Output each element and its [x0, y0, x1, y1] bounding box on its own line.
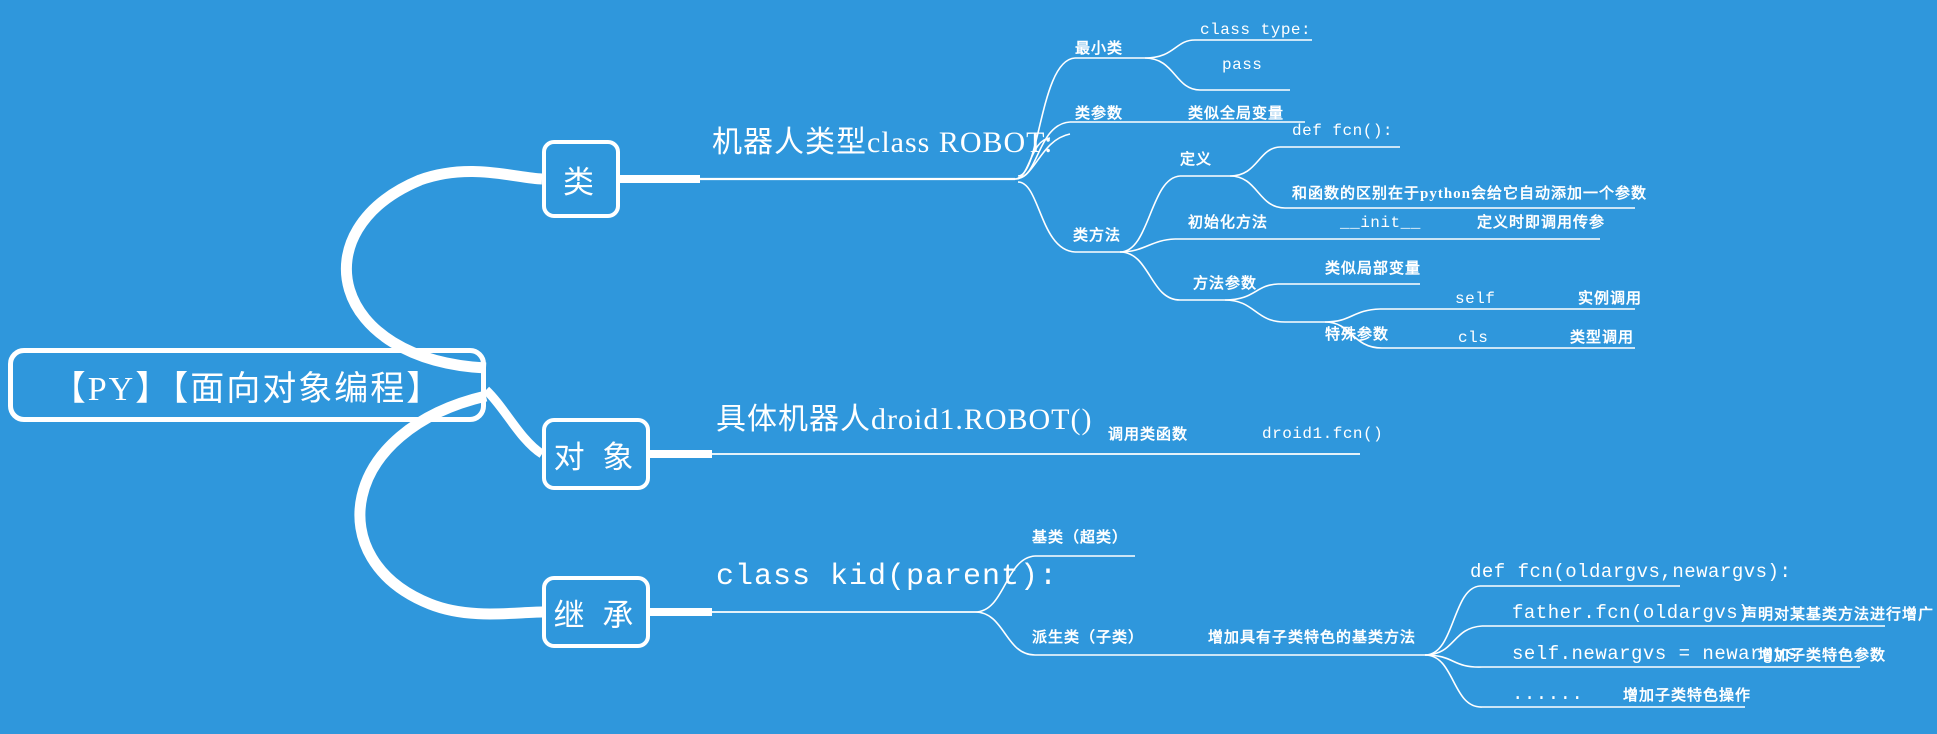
label-like-global-var[interactable]: 类似全局变量: [1188, 107, 1284, 122]
note-class-call[interactable]: 类型调用: [1570, 331, 1634, 346]
code-def-fcn-oldargvs-newargvs[interactable]: def fcn(oldargvs,newargvs):: [1470, 563, 1791, 582]
label-class-methods[interactable]: 类方法: [1073, 229, 1121, 244]
branch-label-object: 对 象: [554, 432, 639, 477]
topic-class-robot[interactable]: 机器人类型class ROBOT:: [712, 128, 1053, 158]
label-base-class[interactable]: 基类（超类）: [1032, 531, 1128, 546]
code-def-fcn[interactable]: def fcn():: [1292, 123, 1393, 139]
note-instance-call[interactable]: 实例调用: [1578, 292, 1642, 307]
note-add-child-operations[interactable]: 增加子类特色操作: [1623, 689, 1751, 704]
code-pass[interactable]: pass: [1222, 57, 1262, 73]
code-ellipsis[interactable]: ......: [1512, 685, 1583, 704]
label-define[interactable]: 定义: [1180, 153, 1212, 168]
label-like-local-var[interactable]: 类似局部变量: [1325, 262, 1421, 277]
label-method-params[interactable]: 方法参数: [1193, 277, 1257, 292]
code-father-fcn-oldargvs[interactable]: father.fcn(oldargvs): [1512, 604, 1750, 623]
note-init-called-on-define[interactable]: 定义时即调用传参: [1477, 216, 1605, 231]
code-cls[interactable]: cls: [1458, 330, 1488, 346]
root-node[interactable]: 【PY】【面向对象编程】: [8, 348, 486, 422]
label-class-params[interactable]: 类参数: [1075, 107, 1123, 122]
label-init-method[interactable]: 初始化方法: [1188, 216, 1268, 231]
label-call-class-function[interactable]: 调用类函数: [1108, 428, 1188, 443]
mindmap-canvas: 【PY】【面向对象编程】 类 对 象 继 承 机器人类型class ROBOT:…: [0, 0, 1937, 734]
code-self[interactable]: self: [1455, 291, 1495, 307]
label-special-params[interactable]: 特殊参数: [1325, 328, 1389, 343]
topic-class-kid-parent[interactable]: class kid(parent):: [716, 562, 1058, 592]
topic-object-instance[interactable]: 具体机器人droid1.ROBOT(): [716, 405, 1092, 435]
code-init-dunder[interactable]: __init__: [1340, 215, 1421, 231]
code-class-type[interactable]: class type:: [1200, 22, 1311, 38]
branch-node-inheritance[interactable]: 继 承: [542, 576, 650, 648]
code-droid-fcn[interactable]: droid1.fcn(): [1262, 426, 1383, 442]
branch-node-object[interactable]: 对 象: [542, 418, 650, 490]
note-function-difference[interactable]: 和函数的区别在于python会给它自动添加一个参数: [1292, 187, 1647, 202]
note-add-child-params[interactable]: 增加子类特色参数: [1758, 649, 1886, 664]
note-declare-augment-base-method[interactable]: 声明对某基类方法进行增广: [1742, 608, 1934, 623]
branch-node-class[interactable]: 类: [542, 140, 620, 218]
root-label: 【PY】【面向对象编程】: [52, 361, 442, 410]
branch-label-class: 类: [563, 157, 599, 202]
code-self-newargvs-assign[interactable]: self.newargvs = newargvs: [1512, 645, 1798, 664]
branch-label-inheritance: 继 承: [554, 590, 639, 635]
note-derived-add-base-method[interactable]: 增加具有子类特色的基类方法: [1208, 631, 1416, 646]
label-min-class[interactable]: 最小类: [1075, 42, 1123, 57]
label-derived-class[interactable]: 派生类（子类）: [1032, 631, 1144, 646]
